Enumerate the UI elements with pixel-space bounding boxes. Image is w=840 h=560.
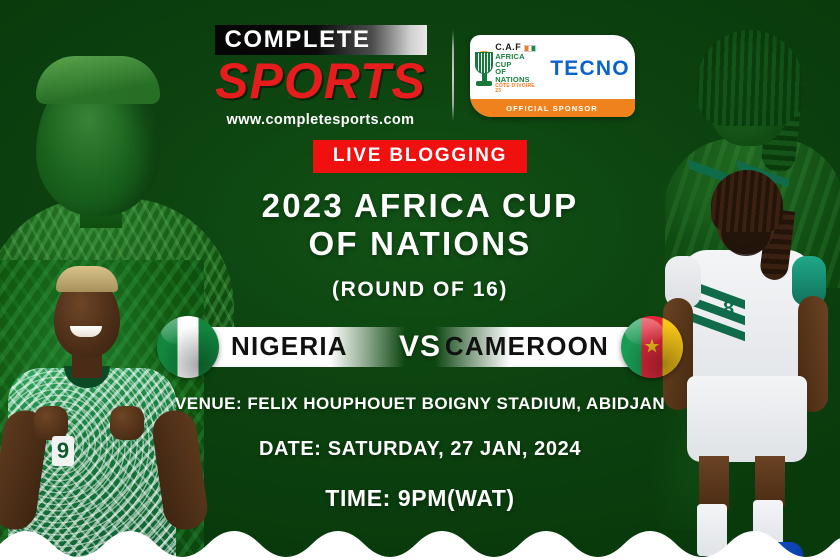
event-title-line2: OF NATIONS <box>262 225 579 263</box>
cote-divoire-flag-icon <box>524 45 536 52</box>
flag-shade <box>621 316 683 378</box>
sponsor-lockup: C.A.F AFRICA CUP OF NATIONS CÔTE D'IVOIR… <box>470 35 635 99</box>
event-title: 2023 AFRICA CUP OF NATIONS <box>262 187 579 264</box>
scalloped-bottom-edge <box>0 500 840 560</box>
caf-title-line1: AFRICA CUP <box>495 53 538 69</box>
trophy-stem <box>482 73 487 81</box>
caf-logo: C.A.F AFRICA CUP OF NATIONS CÔTE D'IVOIR… <box>474 43 538 94</box>
caf-host-label: CÔTE D'IVOIRE 23 <box>495 84 538 95</box>
trophy-icon <box>474 52 492 86</box>
match-promo-poster: 9 8 COMPLETE SPORTS www.completesports.c… <box>0 0 840 560</box>
trophy-base <box>476 81 492 86</box>
website-url[interactable]: www.completesports.com <box>215 112 427 128</box>
poster-content: LIVE BLOGGING 2023 AFRICA CUP OF NATIONS… <box>0 140 840 512</box>
matchup-row: NIGERIA VS CAMEROON ★ <box>0 314 840 380</box>
venue-text: VENUE: FELIX HOUPHOUET BOIGNY STADIUM, A… <box>175 394 665 414</box>
round-label: (ROUND OF 16) <box>332 278 508 302</box>
caf-text-block: C.A.F AFRICA CUP OF NATIONS CÔTE D'IVOIR… <box>495 43 538 94</box>
event-title-line1: 2023 AFRICA CUP <box>262 187 579 225</box>
versus-label: VS <box>399 330 441 364</box>
tecno-wordmark: TECNO <box>550 57 630 81</box>
logo-word-complete: COMPLETE <box>215 25 427 55</box>
nigeria-flag-icon <box>157 316 219 378</box>
caf-title-line2: OF NATIONS <box>495 68 538 84</box>
logo-word-sports: SPORTS <box>215 57 427 106</box>
brand-header: COMPLETE SPORTS www.completesports.com C… <box>0 20 840 132</box>
trophy-cup <box>475 52 493 74</box>
live-blogging-badge[interactable]: LIVE BLOGGING <box>313 140 527 173</box>
official-sponsor-strip: OFFICIAL SPONSOR <box>470 99 635 117</box>
flag-shade <box>157 316 219 378</box>
home-team-name: NIGERIA <box>205 327 405 367</box>
sponsor-badge: C.A.F AFRICA CUP OF NATIONS CÔTE D'IVOIR… <box>470 35 635 117</box>
away-team-name: CAMEROON <box>435 327 635 367</box>
vertical-divider <box>452 30 454 122</box>
date-text: DATE: SATURDAY, 27 JAN, 2024 <box>259 438 581 461</box>
cameroon-flag-icon: ★ <box>621 316 683 378</box>
completesports-logo[interactable]: COMPLETE SPORTS www.completesports.com <box>206 25 436 128</box>
